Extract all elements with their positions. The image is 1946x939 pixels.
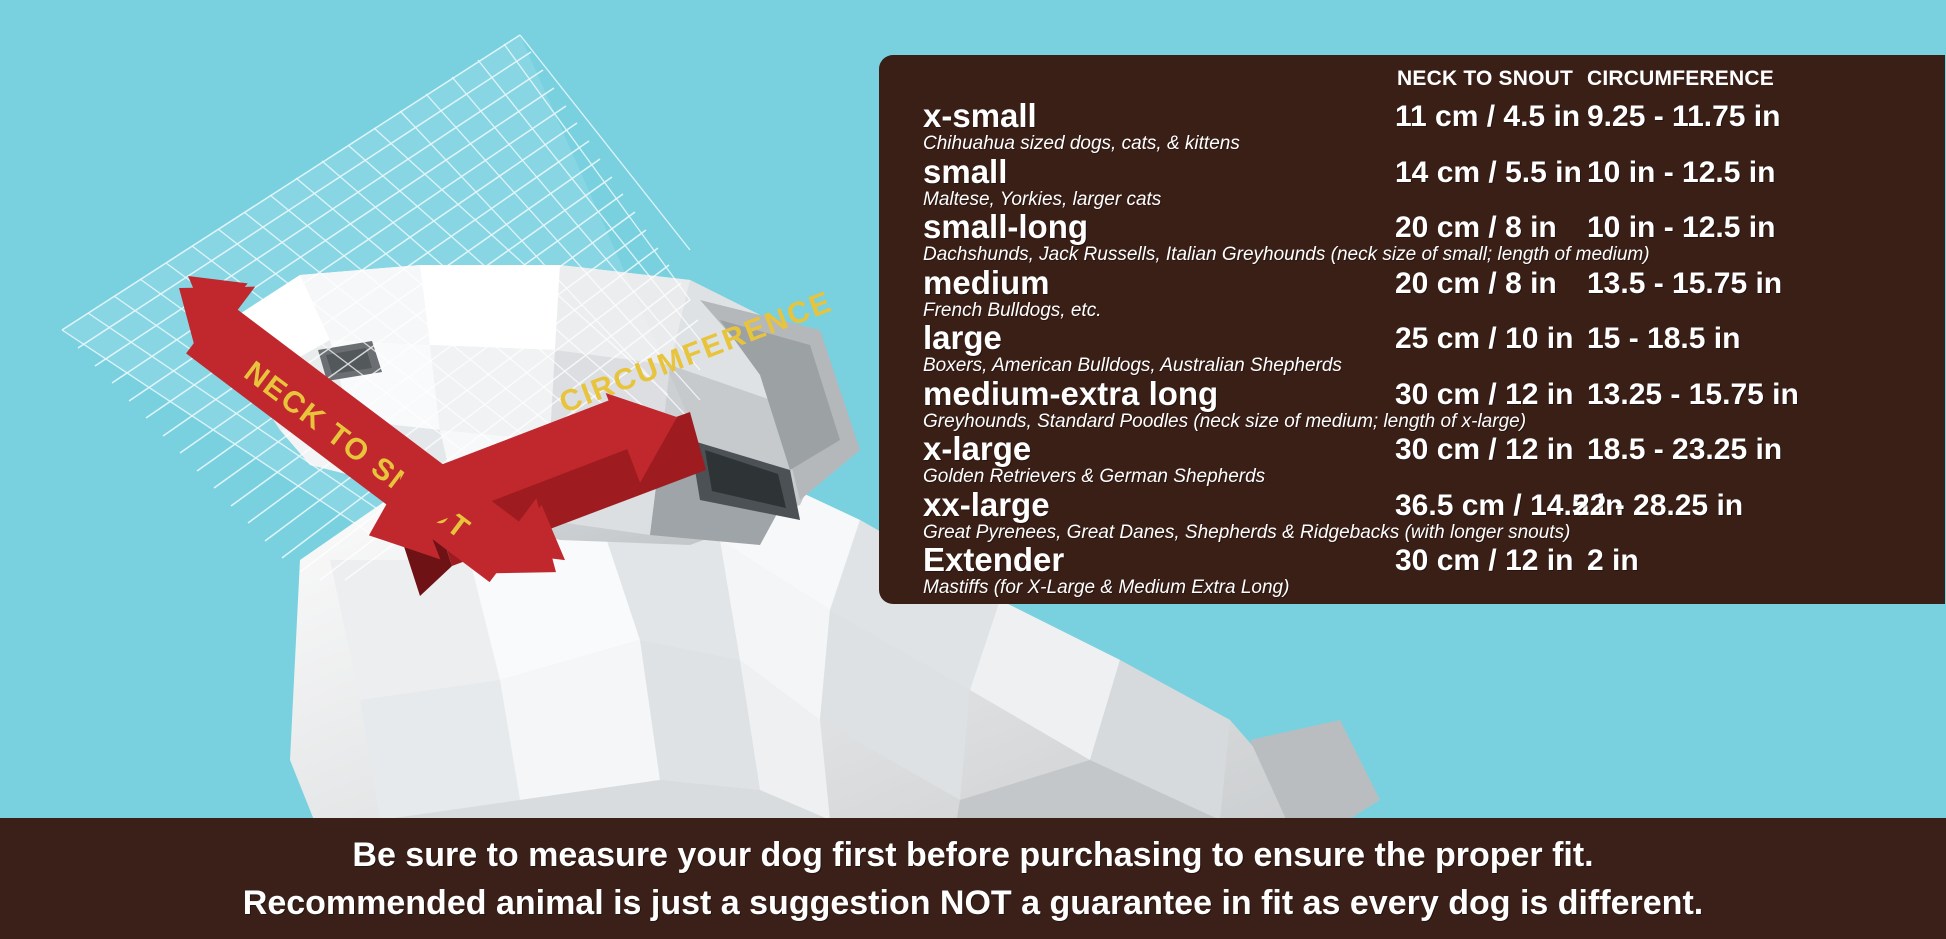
size-name: large xyxy=(923,319,1002,357)
neck-to-snout-value: 11 cm / 4.5 in xyxy=(1395,99,1580,135)
table-row: Extender30 cm / 12 in2 inMastiffs (for X… xyxy=(879,541,1945,597)
banner-line-1: Be sure to measure your dog first before… xyxy=(352,831,1593,879)
sizing-chart-graphic: NECK TO SNOUT CIRCUMFERENCE NECK TO SNOU… xyxy=(0,0,1946,939)
circumference-value: 15 - 18.5 in xyxy=(1587,321,1740,357)
disclaimer-banner: Be sure to measure your dog first before… xyxy=(0,818,1946,939)
size-name: small xyxy=(923,153,1007,191)
circumference-value: 13.5 - 15.75 in xyxy=(1587,266,1782,302)
size-name: Extender xyxy=(923,541,1064,579)
table-row: x-small11 cm / 4.5 in9.25 - 11.75 inChih… xyxy=(879,97,1945,153)
table-row: xx-large36.5 cm / 14.5 in22 - 28.25 inGr… xyxy=(879,486,1945,542)
table-column-headers: NECK TO SNOUT CIRCUMFERENCE xyxy=(879,67,1945,97)
size-name: medium xyxy=(923,264,1050,302)
size-name: small-long xyxy=(923,208,1088,246)
size-name: medium-extra long xyxy=(923,375,1218,413)
size-name: xx-large xyxy=(923,486,1050,524)
circumference-value: 10 in - 12.5 in xyxy=(1587,155,1775,191)
breed-examples: Mastiffs (for X-Large & Medium Extra Lon… xyxy=(923,577,1289,599)
size-table-panel: NECK TO SNOUT CIRCUMFERENCE x-small11 cm… xyxy=(879,55,1945,604)
table-row: x-large30 cm / 12 in18.5 - 23.25 inGolde… xyxy=(879,430,1945,486)
column-header-neck-to-snout: NECK TO SNOUT xyxy=(1397,67,1573,91)
circumference-value: 2 in xyxy=(1587,543,1639,579)
size-table-rows: x-small11 cm / 4.5 in9.25 - 11.75 inChih… xyxy=(879,97,1945,597)
circumference-value: 18.5 - 23.25 in xyxy=(1587,432,1782,468)
neck-to-snout-value: 30 cm / 12 in xyxy=(1395,432,1573,468)
table-row: medium-extra long30 cm / 12 in13.25 - 15… xyxy=(879,375,1945,431)
table-row: medium20 cm / 8 in13.5 - 15.75 inFrench … xyxy=(879,264,1945,320)
column-header-circumference: CIRCUMFERENCE xyxy=(1587,67,1774,91)
neck-to-snout-value: 30 cm / 12 in xyxy=(1395,543,1573,579)
banner-line-2: Recommended animal is just a suggestion … xyxy=(243,879,1703,927)
table-row: small14 cm / 5.5 in10 in - 12.5 inMaltes… xyxy=(879,153,1945,209)
circumference-value: 10 in - 12.5 in xyxy=(1587,210,1775,246)
neck-to-snout-value: 14 cm / 5.5 in xyxy=(1395,155,1582,191)
table-row: large25 cm / 10 in15 - 18.5 inBoxers, Am… xyxy=(879,319,1945,375)
circumference-value: 9.25 - 11.75 in xyxy=(1587,99,1780,135)
neck-to-snout-value: 25 cm / 10 in xyxy=(1395,321,1573,357)
circumference-value: 22 - 28.25 in xyxy=(1573,488,1743,524)
neck-to-snout-value: 30 cm / 12 in xyxy=(1395,377,1573,413)
table-row: small-long20 cm / 8 in10 in - 12.5 inDac… xyxy=(879,208,1945,264)
size-name: x-small xyxy=(923,97,1037,135)
size-name: x-large xyxy=(923,430,1031,468)
neck-to-snout-value: 20 cm / 8 in xyxy=(1395,210,1557,246)
neck-to-snout-value: 20 cm / 8 in xyxy=(1395,266,1557,302)
circumference-value: 13.25 - 15.75 in xyxy=(1587,377,1799,413)
